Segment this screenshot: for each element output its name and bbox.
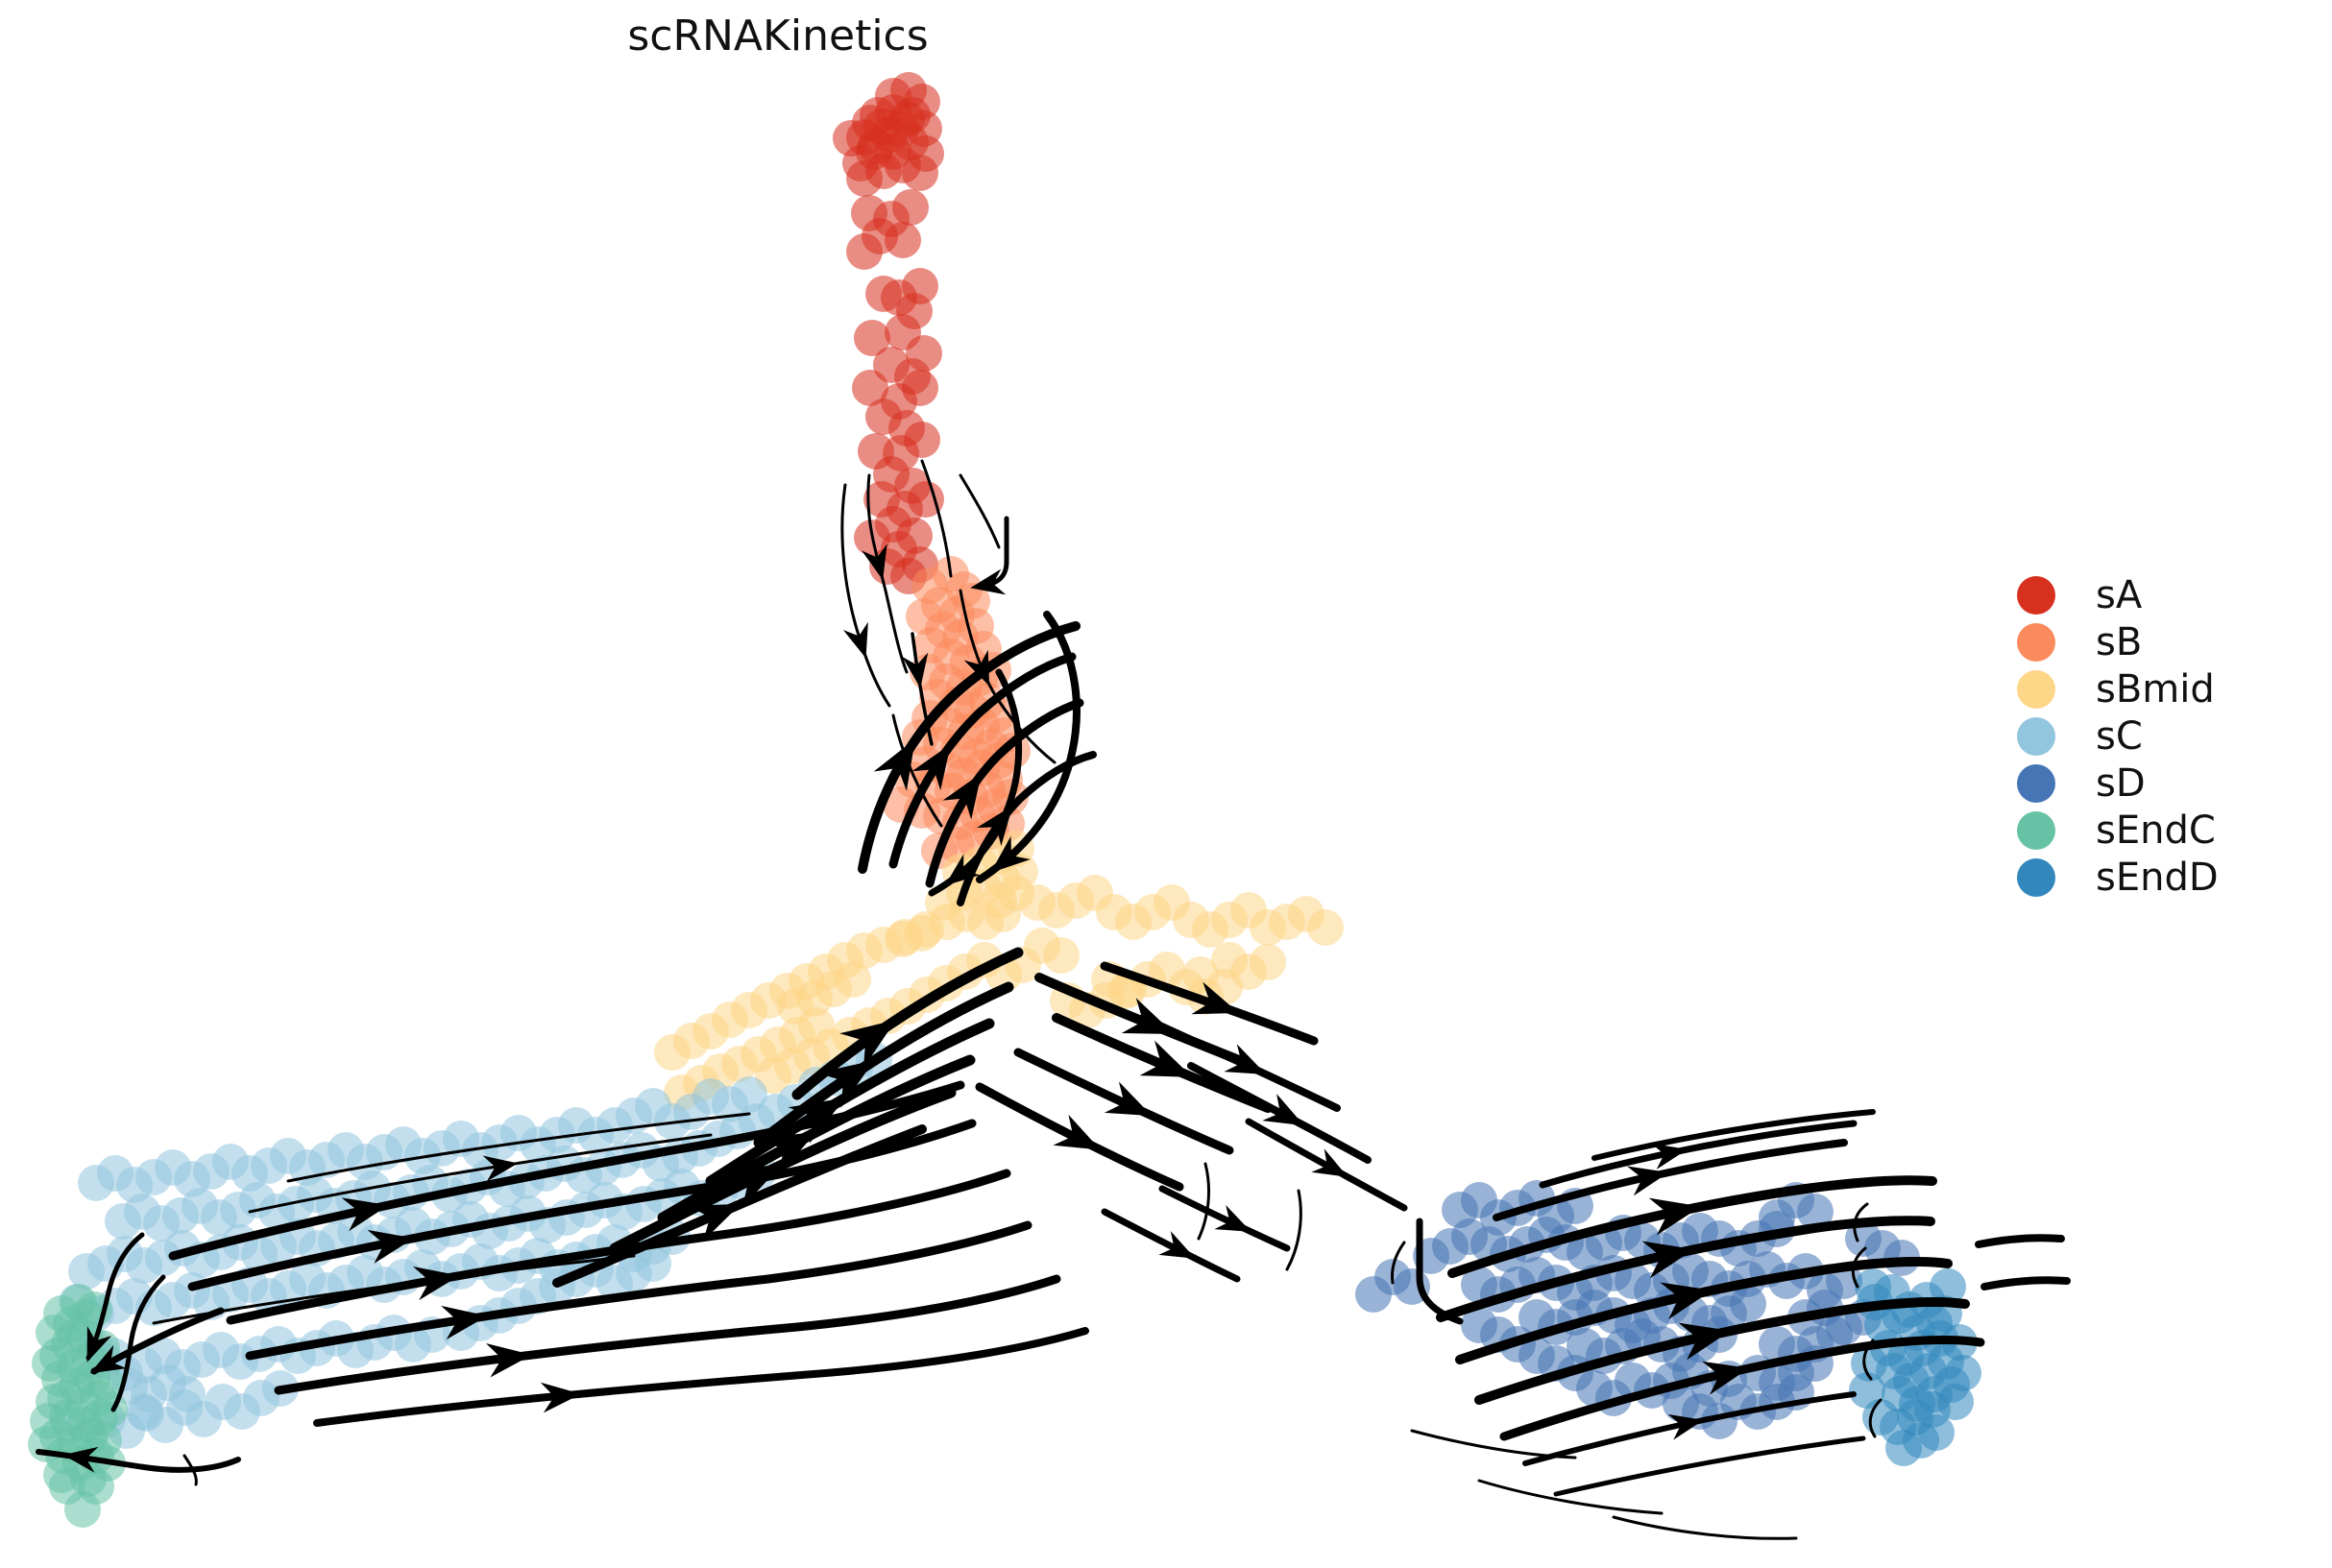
legend-item[interactable]: sD xyxy=(1998,760,2315,807)
legend-label: sBmid xyxy=(2096,670,2215,709)
legend-swatch-sd-icon xyxy=(2017,764,2055,803)
streamline xyxy=(1984,1280,2067,1287)
streamline xyxy=(1614,1517,1796,1538)
streamline xyxy=(1162,1189,1287,1248)
legend-item[interactable]: sBmid xyxy=(1998,665,2315,712)
streamline-arrowhead-icon xyxy=(1191,982,1244,1029)
legend-swatch-sb-icon xyxy=(2017,623,2055,662)
streamline xyxy=(1287,1191,1300,1269)
legend-item[interactable]: sC xyxy=(1998,712,2315,760)
streamline xyxy=(1594,1112,1873,1158)
legend-item[interactable]: sA xyxy=(1998,571,2315,618)
streamline-arrowhead-icon xyxy=(1214,1205,1256,1243)
streamline-arrowhead-icon xyxy=(1224,1044,1273,1088)
streamline xyxy=(1393,1242,1405,1283)
streamline xyxy=(922,461,951,576)
legend-label: sB xyxy=(2096,623,2142,662)
streamline xyxy=(868,475,907,672)
streamline xyxy=(1556,1438,1863,1494)
streamline-group xyxy=(38,461,2067,1538)
streamline-arrowhead-icon xyxy=(862,544,895,584)
legend-label: sC xyxy=(2096,717,2143,756)
streamline-arrowhead-icon xyxy=(1053,1115,1107,1166)
legend-swatch-sbmid-icon xyxy=(2017,670,2055,709)
legend-item[interactable]: sEndC xyxy=(1998,807,2315,854)
streamline xyxy=(1504,1340,1980,1436)
legend-label: sEndD xyxy=(2096,858,2219,897)
streamline xyxy=(1979,1238,2061,1244)
legend: sAsBsBmidsCsDsEndCsEndD xyxy=(1998,571,2315,901)
velocity-stream-layer xyxy=(0,0,2332,1568)
legend-item[interactable]: sEndD xyxy=(1998,854,2315,901)
streamline xyxy=(173,1085,960,1256)
streamline xyxy=(1199,1164,1209,1239)
streamline xyxy=(1479,1481,1662,1513)
legend-label: sEndC xyxy=(2096,811,2216,850)
streamline xyxy=(1105,1212,1237,1279)
legend-swatch-sa-icon xyxy=(2017,576,2055,615)
streamline xyxy=(1870,1400,1881,1436)
streamline-arrowhead-icon xyxy=(843,622,879,663)
streamline-arrowhead-icon xyxy=(968,569,1007,601)
streamline xyxy=(960,475,999,547)
rna-velocity-plot: scRNAKinetics sAsBsBmidsCsDsEndCsEndD xyxy=(0,0,2332,1568)
legend-label: sD xyxy=(2096,764,2146,803)
streamline-arrowhead-icon xyxy=(1158,1231,1202,1270)
legend-swatch-sendc-icon xyxy=(2017,811,2055,850)
streamline-arrowhead-icon xyxy=(1105,1081,1159,1131)
legend-item[interactable]: sB xyxy=(1998,618,2315,665)
legend-swatch-sendd-icon xyxy=(2017,858,2055,897)
streamline-arrowhead-icon xyxy=(1311,1148,1354,1189)
streamline xyxy=(842,485,889,706)
streamline xyxy=(1543,1123,1854,1185)
streamline xyxy=(94,1311,221,1371)
streamline xyxy=(317,1331,1085,1423)
legend-label: sA xyxy=(2096,576,2142,615)
legend-swatch-sc-icon xyxy=(2017,717,2055,756)
streamline xyxy=(113,1277,163,1410)
streamline xyxy=(88,1235,142,1358)
